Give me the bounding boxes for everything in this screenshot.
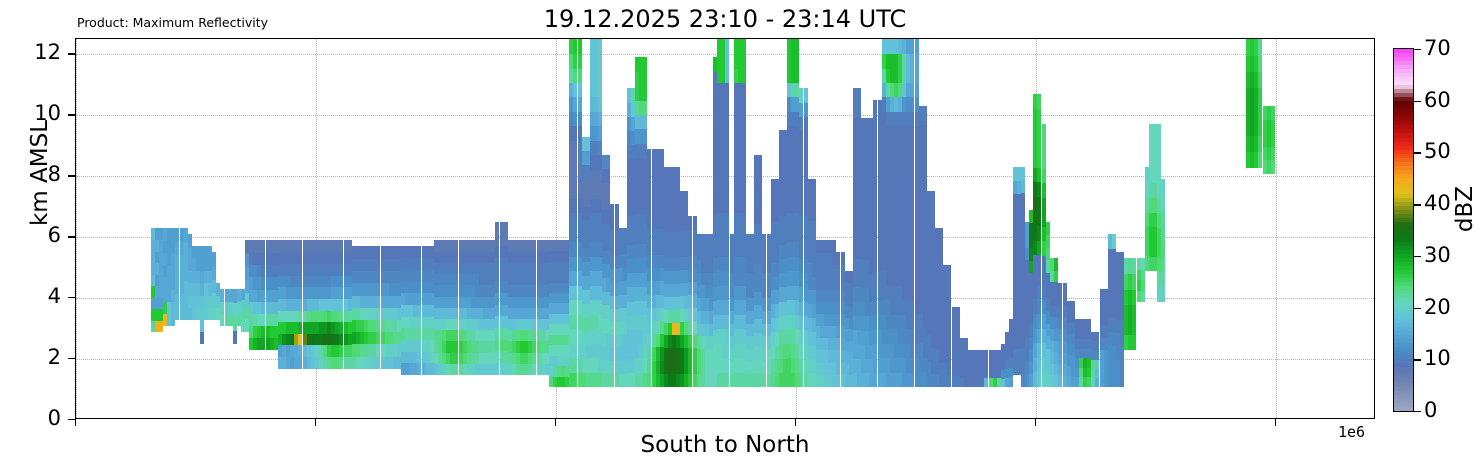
reflectivity-cell <box>1037 328 1041 343</box>
reflectivity-cell <box>573 155 577 170</box>
reflectivity-cell <box>799 344 803 359</box>
reflectivity-cell <box>725 68 729 83</box>
reflectivity-cell <box>1161 271 1165 287</box>
reflectivity-cell <box>725 53 729 68</box>
reflectivity-cell <box>1271 119 1275 133</box>
reflectivity-cell <box>298 345 302 357</box>
reflectivity-cell <box>1037 123 1041 138</box>
reflectivity-cell <box>298 298 302 310</box>
reflectivity-cell <box>910 111 914 126</box>
reflectivity-cell <box>984 377 988 387</box>
x-axis-tick <box>1035 419 1036 426</box>
reflectivity-cell <box>220 313 224 326</box>
reflectivity-cell <box>647 268 651 282</box>
reflectivity-cell <box>1258 55 1262 72</box>
reflectivity-cell <box>598 39 602 54</box>
reflectivity-cell <box>1161 179 1165 195</box>
reflectivity-cell <box>1058 283 1062 295</box>
reflectivity-cell <box>495 363 499 375</box>
reflectivity-cell <box>1132 289 1136 305</box>
reflectivity-cell <box>984 359 988 369</box>
reflectivity-cell <box>339 322 343 334</box>
reflectivity-cell <box>804 88 808 103</box>
reflectivity-cell <box>799 130 803 145</box>
reflectivity-cell <box>1037 357 1041 372</box>
reflectivity-cell <box>417 328 421 340</box>
reflectivity-cell <box>795 53 799 68</box>
reflectivity-cell <box>910 242 914 257</box>
reflectivity-cell <box>984 350 988 360</box>
reflectivity-cell <box>804 116 808 131</box>
reflectivity-cell <box>742 97 746 112</box>
reflectivity-cell <box>578 39 582 54</box>
reflectivity-cell <box>339 298 343 310</box>
reflectivity-cell <box>742 155 746 170</box>
reflectivity-cell <box>298 287 302 299</box>
reflectivity-cell <box>615 204 619 218</box>
reflectivity-cell <box>742 184 746 199</box>
reflectivity-cell <box>1157 154 1161 169</box>
y-axis-tick-label: 4 <box>15 286 61 307</box>
reflectivity-cell <box>1058 363 1062 375</box>
reflectivity-cell <box>947 338 951 351</box>
y-axis-tick <box>68 419 75 420</box>
reflectivity-cell <box>910 198 914 213</box>
reflectivity-cell <box>504 222 508 234</box>
reflectivity-cell <box>573 314 577 329</box>
reflectivity-cell <box>175 267 179 281</box>
reflectivity-cell <box>175 293 179 307</box>
reflectivity-cell <box>261 326 265 339</box>
reflectivity-cell <box>742 39 746 54</box>
reflectivity-cell <box>643 129 647 144</box>
reflectivity-cell <box>610 269 614 283</box>
reflectivity-cell <box>417 258 421 270</box>
reflectivity-cell <box>873 272 877 287</box>
reflectivity-cell <box>758 209 762 223</box>
x-axis-tick <box>1275 419 1276 426</box>
reflectivity-column <box>836 252 840 386</box>
y-axis-tick <box>68 236 75 237</box>
reflectivity-cell <box>688 229 692 243</box>
reflectivity-cell <box>910 213 914 228</box>
reflectivity-cell <box>910 97 914 112</box>
reflectivity-cell <box>1161 240 1165 256</box>
reflectivity-cell <box>939 240 943 253</box>
y-axis-tick-label: 12 <box>15 42 61 63</box>
reflectivity-cell <box>1095 341 1099 351</box>
reflectivity-cell <box>799 187 803 202</box>
reflectivity-cell <box>495 339 499 351</box>
reflectivity-column <box>1258 39 1262 167</box>
reflectivity-cell <box>495 222 499 234</box>
reflectivity-cell <box>578 68 582 83</box>
reflectivity-cell <box>598 82 602 97</box>
reflectivity-cell <box>956 307 960 319</box>
reflectivity-cell <box>454 296 458 308</box>
reflectivity-cell <box>175 228 179 242</box>
reflectivity-cell <box>1132 258 1136 274</box>
reflectivity-cell <box>1095 368 1099 378</box>
reflectivity-cell <box>1037 211 1041 226</box>
reflectivity-cell <box>1054 258 1058 270</box>
y-axis-tick <box>68 53 75 54</box>
reflectivity-cell <box>799 173 803 188</box>
reflectivity-cell <box>598 111 602 126</box>
colorbar-tick-label: 40 <box>1424 193 1451 214</box>
reflectivity-cell <box>725 343 729 358</box>
reflectivity-cell <box>647 281 651 295</box>
reflectivity-cell <box>762 361 766 374</box>
colorbar-tick <box>1414 152 1421 153</box>
reflectivity-cell <box>1141 280 1145 291</box>
reflectivity-cell <box>647 202 651 216</box>
reflectivity-cell <box>261 240 265 253</box>
reflectivity-cell <box>1095 332 1099 342</box>
reflectivity-cell <box>573 343 577 358</box>
reflectivity-cell <box>573 140 577 155</box>
reflectivity-cell <box>573 97 577 112</box>
reflectivity-cell <box>725 256 729 271</box>
reflectivity-cell <box>1037 255 1041 270</box>
reflectivity-cell <box>947 265 951 278</box>
reflectivity-cell <box>573 372 577 387</box>
reflectivity-column <box>220 289 224 326</box>
reflectivity-cell <box>454 307 458 319</box>
reflectivity-cell <box>947 277 951 290</box>
reflectivity-cell <box>725 97 729 112</box>
reflectivity-cell <box>376 319 380 332</box>
reflectivity-cell <box>610 204 614 218</box>
reflectivity-cell <box>495 269 499 281</box>
reflectivity-cell <box>1009 377 1013 387</box>
reflectivity-column <box>984 350 988 387</box>
reflectivity-cell <box>873 301 877 316</box>
reflectivity-cell <box>1271 106 1275 120</box>
reflectivity-cell <box>836 326 840 339</box>
reflectivity-column <box>1271 106 1275 173</box>
reflectivity-cell <box>573 39 577 54</box>
reflectivity-cell <box>298 357 302 369</box>
reflectivity-cell <box>1058 317 1062 329</box>
reflectivity-cell <box>725 271 729 286</box>
reflectivity-cell <box>1021 180 1025 194</box>
reflectivity-cell <box>799 202 803 217</box>
reflectivity-cell <box>812 193 816 207</box>
reflectivity-cell <box>688 347 692 361</box>
reflectivity-cell <box>1132 304 1136 320</box>
reflectivity-cell <box>758 155 762 169</box>
reflectivity-cell <box>795 68 799 83</box>
reflectivity-cell <box>298 252 302 264</box>
colorbar-tick-label: 0 <box>1424 400 1437 421</box>
reflectivity-columns <box>76 39 1374 418</box>
reflectivity-cell <box>799 102 803 117</box>
reflectivity-cell <box>725 39 729 54</box>
reflectivity-cell <box>873 215 877 230</box>
reflectivity-cell <box>910 227 914 242</box>
reflectivity-cell <box>1042 183 1046 198</box>
reflectivity-column <box>339 240 343 368</box>
reflectivity-column <box>532 240 536 374</box>
reflectivity-cell <box>532 330 536 342</box>
reflectivity-cell <box>1161 210 1165 226</box>
reflectivity-cell <box>610 282 614 296</box>
reflectivity-cell <box>454 263 458 275</box>
reflectivity-cell <box>956 319 960 331</box>
reflectivity-cell <box>647 320 651 334</box>
reflectivity-cell <box>532 251 536 263</box>
reflectivity-cell <box>200 332 204 345</box>
reflectivity-cell <box>495 327 499 339</box>
reflectivity-column <box>610 204 614 387</box>
reflectivity-cell <box>939 228 943 241</box>
reflectivity-cell <box>799 258 803 273</box>
y-axis-tick-label: 0 <box>15 408 61 429</box>
reflectivity-cell <box>1120 373 1124 387</box>
reflectivity-cell <box>725 184 729 199</box>
reflectivity-cell <box>799 301 803 316</box>
reflectivity-cell <box>910 329 914 344</box>
reflectivity-cell <box>910 39 914 54</box>
reflectivity-cell <box>1037 108 1041 123</box>
reflectivity-cell <box>742 82 746 97</box>
reflectivity-cell <box>799 358 803 373</box>
reflectivity-cell <box>573 213 577 228</box>
reflectivity-cell <box>725 82 729 97</box>
reflectivity-cell <box>762 272 766 285</box>
reflectivity-cell <box>647 175 651 189</box>
x-axis-tick <box>75 419 76 426</box>
reflectivity-cell <box>573 198 577 213</box>
reflectivity-cell <box>573 126 577 141</box>
reflectivity-cell <box>804 102 808 117</box>
reflectivity-cell <box>454 240 458 252</box>
reflectivity-cell <box>762 285 766 298</box>
reflectivity-cell <box>573 358 577 373</box>
reflectivity-cell <box>836 265 840 278</box>
colorbar-tick-label: 60 <box>1424 90 1451 111</box>
reflectivity-cell <box>836 338 840 351</box>
reflectivity-cell <box>873 157 877 172</box>
reflectivity-cell <box>688 321 692 335</box>
reflectivity-cell <box>1037 182 1041 197</box>
reflectivity-cell <box>339 263 343 275</box>
reflectivity-cell <box>762 348 766 361</box>
reflectivity-cell <box>495 351 499 363</box>
reflectivity-cell <box>931 191 935 205</box>
reflectivity-cell <box>647 347 651 361</box>
reflectivity-cell <box>573 271 577 286</box>
reflectivity-cell <box>873 372 877 387</box>
reflectivity-cell <box>1161 225 1165 241</box>
reflectivity-cell <box>1120 360 1124 374</box>
reflectivity-cell <box>725 242 729 257</box>
reflectivity-cell <box>947 301 951 314</box>
reflectivity-cell <box>1037 269 1041 284</box>
reflectivity-cell <box>725 111 729 126</box>
reflectivity-cell <box>578 111 582 126</box>
reflectivity-cell <box>261 265 265 278</box>
reflectivity-cell <box>758 168 762 182</box>
reflectivity-cell <box>417 293 421 305</box>
reflectivity-cell <box>417 339 421 351</box>
reflectivity-cell <box>742 169 746 184</box>
reflectivity-cell <box>799 216 803 231</box>
reflectivity-cell <box>376 258 380 271</box>
reflectivity-cell <box>647 228 651 242</box>
reflectivity-cell <box>725 372 729 387</box>
reflectivity-cell <box>233 330 237 344</box>
reflectivity-cell <box>688 255 692 269</box>
reflectivity-cell <box>910 343 914 358</box>
reflectivity-column <box>1095 332 1099 387</box>
reflectivity-cell <box>1021 167 1025 181</box>
reflectivity-cell <box>495 234 499 246</box>
reflectivity-cell <box>1258 151 1262 168</box>
reflectivity-cell <box>454 363 458 375</box>
reflectivity-cell <box>454 251 458 263</box>
x-axis-offset-label: 1e6 <box>1338 424 1365 441</box>
reflectivity-cell <box>1042 153 1046 168</box>
reflectivity-cell <box>261 338 265 351</box>
reflectivity-cell <box>947 362 951 375</box>
reflectivity-column <box>688 216 692 387</box>
reflectivity-cell <box>762 298 766 311</box>
reflectivity-cell <box>532 363 536 375</box>
reflectivity-cell <box>799 287 803 302</box>
reflectivity-cell <box>873 229 877 244</box>
reflectivity-cell <box>417 363 421 375</box>
reflectivity-cell <box>1095 350 1099 360</box>
reflectivity-cell <box>1132 274 1136 290</box>
reflectivity-cell <box>1271 133 1275 147</box>
reflectivity-cell <box>742 213 746 228</box>
reflectivity-cell <box>1037 343 1041 358</box>
reflectivity-cell <box>298 333 302 345</box>
reflectivity-cell <box>647 334 651 348</box>
reflectivity-cell <box>1258 103 1262 120</box>
reflectivity-cell <box>873 329 877 344</box>
reflectivity-cell <box>804 145 808 160</box>
reflectivity-cell <box>573 227 577 242</box>
reflectivity-cell <box>873 315 877 330</box>
reflectivity-cell <box>200 319 204 332</box>
reflectivity-cell <box>647 307 651 321</box>
reflectivity-cell <box>693 216 697 230</box>
reflectivity-cell <box>799 145 803 160</box>
reflectivity-cell <box>799 116 803 131</box>
colorbar-tick-label: 20 <box>1424 297 1451 318</box>
reflectivity-cell <box>454 352 458 364</box>
reflectivity-cell <box>742 68 746 83</box>
reflectivity-cell <box>1258 39 1262 56</box>
reflectivity-cell <box>610 308 614 322</box>
reflectivity-cell <box>910 155 914 170</box>
reflectivity-cell <box>725 155 729 170</box>
reflectivity-cell <box>812 179 816 193</box>
reflectivity-cell <box>175 280 179 294</box>
reflectivity-cell <box>915 68 919 83</box>
reflectivity-cell <box>573 68 577 83</box>
reflectivity-column <box>947 265 951 387</box>
reflectivity-cell <box>1021 206 1025 220</box>
reflectivity-cell <box>261 301 265 314</box>
reflectivity-cell <box>610 347 614 361</box>
reflectivity-cell <box>910 169 914 184</box>
reflectivity-cell <box>610 334 614 348</box>
x-axis-tick <box>315 419 316 426</box>
y-axis-tick-label: 8 <box>15 164 61 185</box>
reflectivity-cell <box>910 285 914 300</box>
reflectivity-cell <box>1258 119 1262 136</box>
reflectivity-cell <box>1132 319 1136 335</box>
reflectivity-cell <box>1058 352 1062 364</box>
reflectivity-cell <box>298 310 302 322</box>
figure-canvas: Product: Maximum Reflectivity 19.12.2025… <box>0 0 1482 470</box>
reflectivity-cell <box>647 241 651 255</box>
y-axis-tick-label: 10 <box>15 103 61 124</box>
reflectivity-cell <box>1058 306 1062 318</box>
reflectivity-cell <box>947 374 951 387</box>
reflectivity-cell <box>1132 335 1136 351</box>
reflectivity-cell <box>417 351 421 363</box>
reflectivity-column <box>454 240 458 374</box>
reflectivity-cell <box>578 53 582 68</box>
reflectivity-column <box>175 228 179 319</box>
reflectivity-cell <box>417 281 421 293</box>
reflectivity-cell <box>799 372 803 387</box>
reflectivity-cell <box>812 221 816 235</box>
reflectivity-cell <box>598 97 602 112</box>
reflectivity-column <box>1058 283 1062 387</box>
y-axis-tick <box>68 114 75 115</box>
reflectivity-cell <box>1037 226 1041 241</box>
reflectivity-cell <box>454 318 458 330</box>
reflectivity-cell <box>836 277 840 290</box>
reflectivity-column <box>376 246 380 368</box>
colorbar-tick <box>1414 256 1421 257</box>
reflectivity-cell <box>495 245 499 257</box>
reflectivity-cell <box>910 372 914 387</box>
reflectivity-cell <box>647 215 651 229</box>
reflectivity-cell <box>578 97 582 112</box>
reflectivity-cell <box>298 263 302 275</box>
reflectivity-cell <box>1037 138 1041 153</box>
reflectivity-cell <box>495 304 499 316</box>
reflectivity-cell <box>1037 240 1041 255</box>
reflectivity-cell <box>1058 375 1062 387</box>
reflectivity-cell <box>598 140 602 155</box>
reflectivity-cell <box>873 186 877 201</box>
x-axis-tick <box>795 419 796 426</box>
reflectivity-cell <box>832 240 836 253</box>
reflectivity-cell <box>532 352 536 364</box>
reflectivity-cell <box>573 53 577 68</box>
reflectivity-cell <box>339 310 343 322</box>
reflectivity-cell <box>873 258 877 273</box>
reflectivity-cell <box>298 275 302 287</box>
reflectivity-cell <box>220 289 224 302</box>
reflectivity-cell <box>873 243 877 258</box>
reflectivity-cell <box>1058 340 1062 352</box>
reflectivity-cell <box>688 308 692 322</box>
reflectivity-cell <box>910 126 914 141</box>
reflectivity-cell <box>684 191 688 205</box>
reflectivity-cell <box>376 307 380 320</box>
reflectivity-column <box>417 246 421 374</box>
reflectivity-cell <box>610 373 614 387</box>
